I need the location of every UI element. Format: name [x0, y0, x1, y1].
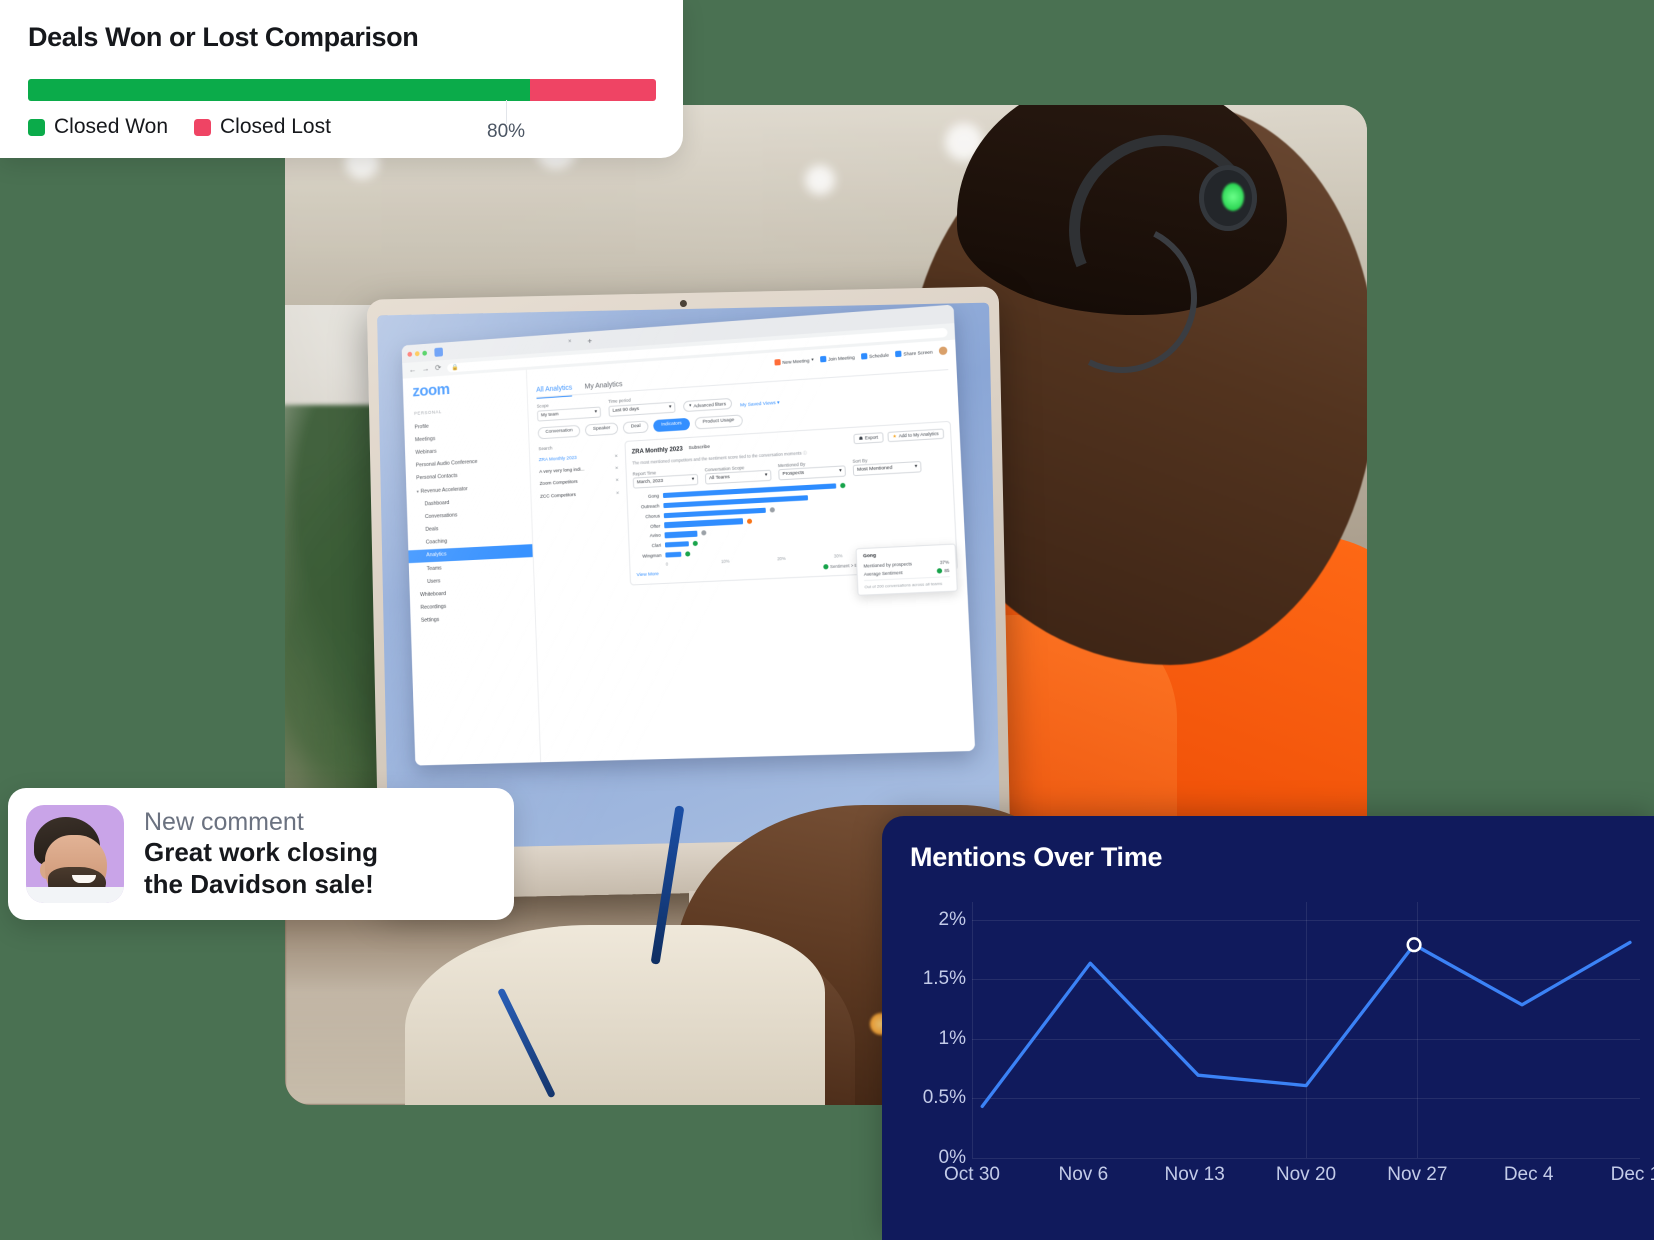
deals-legend: Closed Won Closed Lost	[28, 115, 655, 139]
new-meeting-button[interactable]: New Meeting▾	[774, 357, 814, 366]
close-icon[interactable]: ✕	[615, 478, 619, 484]
schedule-button[interactable]: Schedule	[861, 351, 889, 359]
browser-window: × + ← → ⟳ 🔒	[402, 305, 976, 766]
chart-x-tick: Nov 27	[1387, 1164, 1447, 1186]
close-window-icon[interactable]	[407, 351, 412, 356]
chart-y-tick: 0.5%	[923, 1087, 966, 1109]
comment-message-line1: Great work closing	[144, 837, 378, 869]
plus-icon	[820, 356, 826, 363]
conversation-scope-select[interactable]: All Teams▾	[705, 470, 772, 485]
my-saved-views-link[interactable]: My Saved Views ▾	[740, 400, 780, 408]
legend-label: Sentiment > 80	[830, 563, 859, 570]
time-period-field: Time period Last 90 days▾	[608, 395, 675, 417]
closed-lost-swatch	[194, 119, 211, 136]
avatar	[26, 805, 124, 903]
chevron-down-icon: ▾	[594, 409, 597, 414]
report-card: ZRA Monthly 2023 Subscribe ☗Export ★Add …	[624, 420, 958, 586]
tooltip-row-label: Mentioned by prospects	[863, 561, 912, 568]
axis-tick: 0	[666, 559, 722, 567]
mentioned-by-field: Mentioned By Prospects▾	[778, 459, 846, 481]
chevron-down-icon: ▾	[692, 477, 695, 482]
forward-icon[interactable]: →	[422, 365, 430, 373]
imac-display: × + ← → ⟳ 🔒	[377, 303, 1000, 850]
saved-search-label: ZRA Monthly 2023	[539, 456, 577, 464]
share-icon	[895, 351, 902, 358]
join-meeting-button[interactable]: Join Meeting	[820, 354, 855, 363]
deals-comparison-card: Deals Won or Lost Comparison Closed Won …	[0, 0, 683, 158]
closed-won-label: Closed Won	[54, 115, 168, 139]
sentiment-dot-green	[937, 568, 943, 573]
search-label: Search	[538, 441, 618, 451]
time-period-select[interactable]: Last 90 days▾	[608, 401, 675, 416]
pill-product-usage[interactable]: Product Usage	[694, 414, 742, 429]
chart-line	[982, 942, 1630, 1106]
legend-closed-lost: Closed Lost	[194, 115, 331, 139]
legend-item: Sentiment > 80	[823, 563, 860, 570]
comment-label: New comment	[144, 808, 378, 838]
chart-x-tick: Nov 13	[1165, 1164, 1225, 1186]
bar-label: Chorus	[634, 513, 660, 519]
bar-label: Aviso	[635, 533, 661, 539]
sentiment-dot-green	[840, 483, 845, 488]
filter-icon: ▾	[689, 403, 692, 409]
bar-label: Clari	[635, 543, 661, 549]
chart-x-tick: Dec 4	[1504, 1164, 1554, 1186]
zoom-logo: zoom	[412, 381, 450, 401]
bar-label: Gong	[633, 493, 659, 499]
chevron-down-icon: ▾	[839, 469, 842, 474]
mentioned-by-value: Prospects	[782, 471, 804, 477]
close-icon[interactable]: ✕	[614, 453, 618, 459]
new-comment-card[interactable]: New comment Great work closing the David…	[8, 788, 514, 920]
new-meeting-label: New Meeting	[782, 358, 809, 365]
add-to-my-analytics-label: Add to My Analytics	[899, 431, 939, 439]
pill-indicators[interactable]: Indicators	[653, 417, 690, 431]
minimize-window-icon[interactable]	[415, 351, 420, 356]
saved-search-label: A very very long indi...	[539, 467, 584, 476]
report-time-value: March, 2023	[637, 479, 663, 486]
close-icon[interactable]: ✕	[615, 465, 619, 471]
chevron-down-icon: ▾	[811, 357, 814, 363]
webcam-icon	[679, 300, 686, 307]
export-label: Export	[865, 435, 878, 441]
mentioned-by-select[interactable]: Prospects▾	[778, 465, 846, 480]
screenshot-root: × + ← → ⟳ 🔒	[0, 0, 1654, 1240]
lock-icon: 🔒	[451, 363, 458, 370]
sort-by-value: Most Mentioned	[857, 466, 893, 473]
chart-title: Mentions Over Time	[910, 842, 1654, 873]
back-icon[interactable]: ←	[409, 366, 417, 374]
axis-tick: 10%	[721, 557, 777, 565]
time-period-value: Last 90 days	[612, 406, 639, 413]
bar-label: Wingman	[636, 553, 662, 559]
sidebar-item-label: Revenue Accelerator	[421, 486, 468, 495]
comment-message-line2: the Davidson sale!	[144, 869, 378, 901]
axis-tick: 20%	[777, 554, 834, 562]
bar-label: Ofter	[635, 523, 661, 529]
tooltip-title: Gong	[863, 550, 949, 559]
export-icon: ☗	[859, 435, 863, 441]
conversation-scope-value: All Teams	[709, 475, 730, 481]
tooltip-row-value: 37%	[940, 559, 950, 565]
new-tab-icon[interactable]: +	[587, 336, 592, 345]
advanced-filters-button[interactable]: ▾Advanced filters	[683, 397, 732, 411]
chart-gridline	[972, 1158, 1640, 1159]
chart-x-tick: Nov 20	[1276, 1164, 1336, 1186]
deals-lost-segment	[530, 79, 656, 101]
saved-search-label: Zoom Competitors	[540, 480, 578, 488]
saved-views-label: My Saved Views	[740, 401, 776, 408]
sentiment-dot-orange	[747, 518, 752, 523]
chart-plot-area: 0%0.5%1%1.5%2% Oct 30Nov 6Nov 13Nov 20No…	[910, 902, 1640, 1214]
tab-all-analytics[interactable]: All Analytics	[536, 385, 572, 399]
chart-y-tick: 1.5%	[923, 968, 966, 990]
scope-field: Scope My team▾	[537, 400, 601, 422]
maximize-window-icon[interactable]	[422, 350, 427, 355]
sentiment-dot-green	[823, 565, 828, 570]
zoom-sidebar: PERSONAL Profile Meetings Webinars Perso…	[403, 370, 541, 766]
mentions-over-time-card: Mentions Over Time 0%0.5%1%1.5%2% Oct 30…	[882, 816, 1654, 1240]
report-title: ZRA Monthly 2023	[632, 446, 683, 455]
closed-lost-label: Closed Lost	[220, 115, 331, 139]
chart-y-tick: 2%	[939, 909, 966, 931]
bar-fill	[665, 551, 681, 557]
add-to-my-analytics-button[interactable]: ★Add to My Analytics	[887, 428, 944, 442]
sentiment-dot-green	[693, 541, 698, 546]
pill-speaker[interactable]: Speaker	[585, 422, 618, 436]
chart-x-tick: Oct 30	[944, 1164, 1000, 1186]
chevron-down-icon: ▾	[417, 489, 419, 494]
reload-icon[interactable]: ⟳	[435, 364, 442, 372]
scope-value: My team	[541, 412, 559, 418]
chart-x-axis: Oct 30Nov 6Nov 13Nov 20Nov 27Dec 4Dec 11	[972, 1164, 1640, 1194]
avatar[interactable]	[939, 346, 948, 355]
bar-fill	[665, 541, 689, 548]
chevron-down-icon: ▾	[915, 464, 918, 469]
deals-won-segment	[28, 79, 530, 101]
chart-y-axis: 0%0.5%1%1.5%2%	[910, 902, 972, 1158]
video-icon	[774, 359, 780, 365]
chevron-down-icon: ▾	[765, 473, 768, 478]
schedule-label: Schedule	[869, 352, 889, 358]
saved-searches-panel: Search ZRA Monthly 2023✕ A very very lon…	[538, 441, 623, 590]
chart-tooltip: Gong Mentioned by prospects37% Average S…	[855, 543, 957, 596]
tooltip-note: Out of 200 conversations across all team…	[864, 576, 950, 590]
chart-x-tick: Nov 6	[1059, 1164, 1109, 1186]
deals-progress-bar	[28, 79, 656, 101]
conversation-scope-field: Conversation Scope All Teams▾	[705, 463, 772, 485]
sentiment-dot-grey	[770, 507, 775, 512]
zoom-main-content: New Meeting▾ Join Meeting Schedule Share…	[527, 340, 975, 763]
saved-search-label: ZCC Competitors	[540, 493, 576, 501]
share-screen-button[interactable]: Share Screen	[895, 348, 933, 357]
legend-closed-won: Closed Won	[28, 115, 168, 139]
bar-label: Outreach	[634, 503, 660, 509]
pill-deal[interactable]: Deal	[623, 420, 649, 434]
calendar-icon	[861, 353, 867, 360]
sentiment-dot-green	[685, 551, 690, 556]
closed-won-swatch	[28, 119, 45, 136]
bar-fill	[664, 507, 766, 518]
chart-line-series	[972, 902, 1648, 1158]
tooltip-row-value: 85	[944, 568, 949, 573]
sentiment-dot-grey	[701, 531, 706, 536]
window-controls[interactable]	[407, 350, 427, 356]
report-time-field: Report Time March, 2023▾	[632, 467, 698, 488]
close-icon[interactable]: ✕	[616, 490, 620, 496]
chart-x-tick: Dec 11	[1611, 1164, 1654, 1186]
pill-conversation[interactable]: Conversation	[538, 424, 581, 439]
scope-select[interactable]: My team▾	[537, 406, 601, 421]
report-time-select[interactable]: March, 2023▾	[633, 474, 699, 489]
browser-tab[interactable]	[434, 347, 443, 356]
bar-fill	[664, 518, 743, 528]
competitor-bar-chart: Gong Outreach Chorus Ofter Aviso Clari W…	[633, 477, 949, 568]
tooltip-row-label: Average Sentiment	[864, 570, 903, 577]
sort-by-field: Sort By Most Mentioned▾	[852, 454, 921, 476]
deals-percent-label: 80%	[487, 121, 525, 143]
chevron-down-icon: ▾	[669, 404, 672, 409]
tab-my-analytics[interactable]: My Analytics	[585, 381, 623, 391]
person-lap	[405, 925, 825, 1105]
share-screen-label: Share Screen	[903, 349, 932, 356]
bar-fill	[665, 531, 698, 538]
subscribe-button[interactable]: Subscribe	[689, 445, 710, 451]
chart-highlight-point[interactable]	[1408, 938, 1421, 951]
close-tab-icon[interactable]: ×	[568, 339, 572, 345]
view-more-link[interactable]: View More	[637, 573, 659, 579]
chart-y-tick: 1%	[939, 1028, 966, 1050]
star-icon: ★	[892, 433, 896, 439]
join-meeting-label: Join Meeting	[828, 354, 855, 361]
advanced-filters-label: Advanced filters	[693, 401, 726, 408]
deals-card-title: Deals Won or Lost Comparison	[28, 22, 655, 53]
export-button[interactable]: ☗Export	[853, 432, 883, 444]
sort-by-select[interactable]: Most Mentioned▾	[853, 461, 922, 476]
